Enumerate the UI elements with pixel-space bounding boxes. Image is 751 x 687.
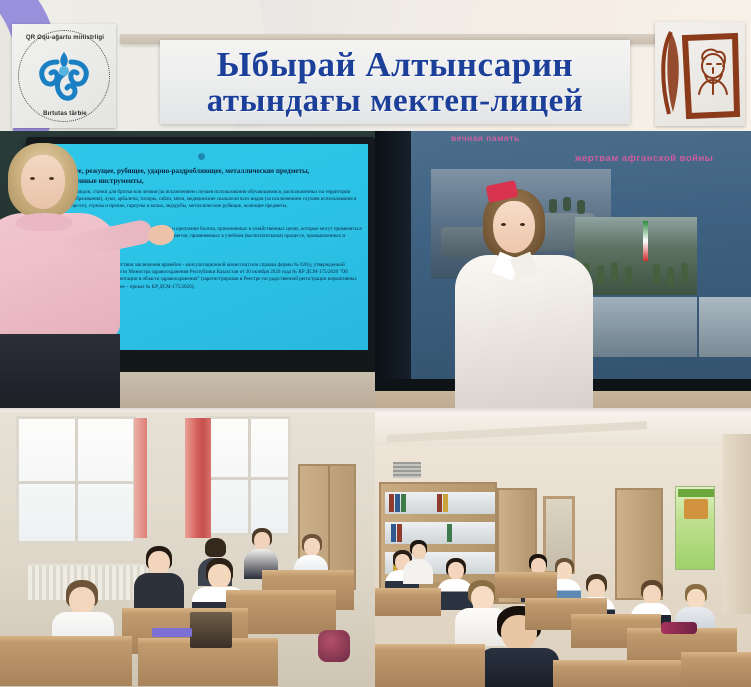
book	[437, 494, 442, 512]
window-right	[205, 416, 291, 536]
ministry-logo-disc: QR Oqu-ağartu ministrligi Bırtutas tärbi…	[18, 30, 110, 122]
student-figure	[134, 546, 184, 608]
teacher-collar	[16, 213, 72, 231]
window-left	[16, 416, 136, 544]
student-face	[557, 562, 572, 580]
book	[391, 524, 396, 542]
memorial-text-line-2: жертвам афганской войны	[575, 153, 713, 164]
notebook	[152, 628, 192, 637]
soldier-figure	[681, 263, 688, 283]
photo-teacher-smartboard: 2) колющее, режущее, рубящее, ударно-раз…	[0, 131, 375, 408]
book	[389, 494, 394, 512]
desk-top	[0, 636, 132, 643]
photo-classroom-bookcase	[375, 412, 751, 687]
kazakh-ornament-icon	[35, 48, 93, 104]
school-title-line-2: атындағы мектеп-лицей	[207, 85, 584, 118]
altynsarin-emblem	[655, 22, 745, 126]
book	[397, 524, 402, 542]
desk-top	[495, 572, 557, 579]
teacher-eye-left	[30, 177, 35, 180]
desk-top	[681, 652, 751, 659]
poster-header	[678, 489, 714, 497]
books-stack	[190, 612, 232, 648]
ministry-logo-bottom-text: Bırtutas tärbie	[19, 111, 111, 117]
desk-top	[571, 614, 661, 621]
troops-photo	[575, 217, 697, 295]
window-mullion	[248, 419, 251, 533]
student-figure	[459, 189, 589, 408]
soldier-figure	[625, 266, 632, 286]
student-face	[493, 201, 535, 253]
bookshelf-row	[385, 492, 495, 514]
student-shirt	[455, 255, 593, 408]
school-name-plate: Ыбырай Алтынсарин атындағы мектеп-лицей	[160, 40, 630, 124]
teacher-face	[21, 155, 65, 209]
desk	[495, 572, 557, 598]
student-uniform	[479, 648, 559, 687]
desk	[375, 588, 441, 616]
student-face	[148, 551, 170, 575]
desk-top	[226, 590, 336, 597]
student-hair	[205, 538, 226, 557]
tr-dark-edge	[375, 131, 411, 379]
student-face	[412, 544, 426, 560]
soldier-figure	[667, 267, 674, 287]
vent-grille	[393, 462, 421, 478]
book	[401, 494, 406, 512]
desk	[681, 652, 751, 687]
bookshelf-row	[385, 522, 495, 544]
teacher-eye-right	[49, 177, 54, 180]
soldier-figure	[611, 262, 618, 282]
window-mullion	[75, 419, 78, 541]
student-face	[208, 564, 231, 589]
soldier-figure	[597, 265, 604, 285]
teacher-figure	[0, 141, 120, 408]
book	[447, 524, 452, 542]
photo-student-memorial: вечная память жертвам афганской войны	[375, 131, 751, 408]
desk-top	[375, 644, 485, 651]
student-eye-left	[501, 223, 506, 226]
student-face	[254, 532, 270, 550]
desk-top	[262, 570, 354, 577]
window-mullion	[208, 477, 288, 480]
student-figure	[403, 540, 433, 584]
student-uniform	[134, 573, 184, 608]
student-face	[687, 589, 705, 609]
window-curtain	[185, 418, 211, 538]
school-title-line-1: Ыбырай Алтынсарин	[217, 47, 573, 82]
student-face	[643, 585, 661, 605]
window-mullion	[19, 481, 133, 484]
memorial-text-line-1: вечная память	[451, 133, 520, 143]
photo-collage: QR Oqu-ağartu ministrligi Bırtutas tärbi…	[0, 0, 751, 687]
ministry-logo: QR Oqu-ağartu ministrligi Bırtutas tärbi…	[12, 24, 116, 128]
backpack	[318, 630, 350, 662]
book	[395, 494, 400, 512]
pencil-case	[661, 622, 697, 634]
soldier-figure	[653, 264, 660, 284]
desk-top	[525, 598, 607, 605]
student-face	[588, 579, 605, 599]
photo-classroom-windows	[0, 412, 375, 687]
student-face	[69, 587, 95, 615]
wreath-laying-photo	[575, 297, 697, 357]
student-eye-right	[520, 223, 525, 226]
monument-photo	[699, 297, 751, 357]
book	[443, 494, 448, 512]
school-header-banner: QR Oqu-ağartu ministrligi Bırtutas tärbi…	[0, 0, 751, 131]
student-uniform	[403, 559, 433, 584]
wall-poster	[675, 486, 715, 570]
slide-marker-icon	[198, 153, 205, 160]
student-face	[448, 562, 464, 580]
poster-image	[684, 499, 708, 519]
desk	[553, 660, 681, 687]
teacher-skirt	[0, 334, 120, 408]
desk	[0, 636, 132, 686]
collage-divider	[0, 408, 751, 412]
wall-pillar	[723, 434, 751, 614]
desk	[375, 644, 485, 687]
ministry-logo-top-text: QR Oqu-ağartu ministrligi	[19, 35, 111, 41]
flag-icon	[643, 221, 648, 261]
desk-top	[553, 660, 681, 667]
student-face	[304, 538, 320, 556]
window-curtain-secondary	[134, 418, 147, 538]
desk-top	[375, 588, 441, 595]
